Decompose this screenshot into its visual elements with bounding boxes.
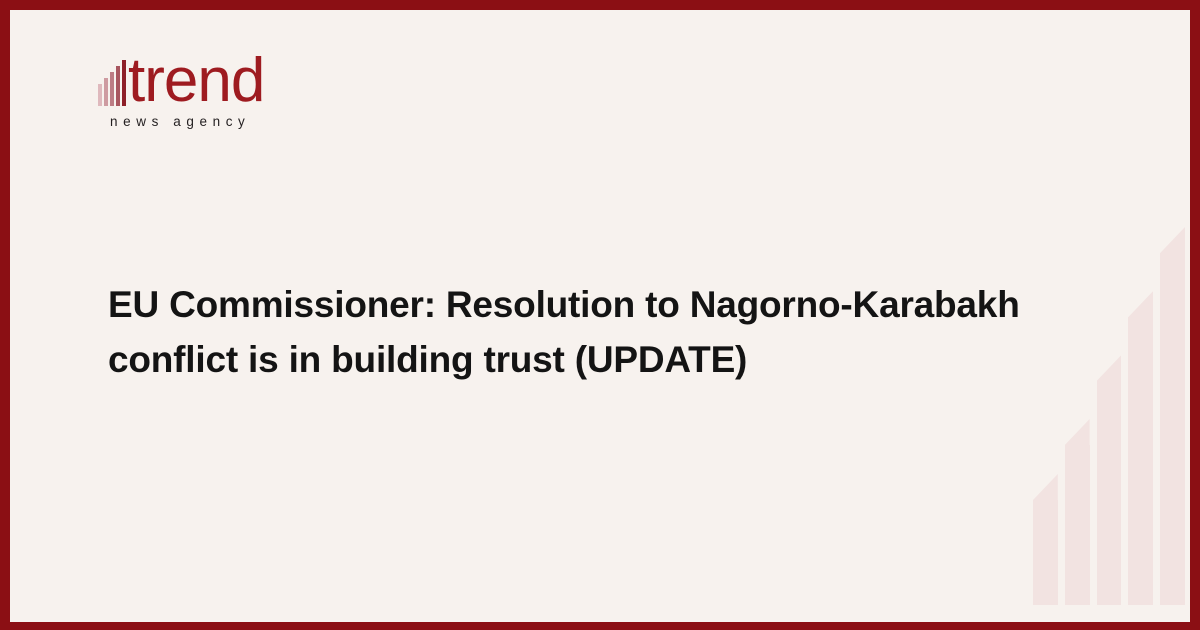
logo-bar [98, 84, 102, 106]
logo-tagline: news agency [110, 114, 398, 129]
decorative-bar [1128, 317, 1153, 605]
card-canvas: trend news agency EU Commissioner: Resol… [10, 10, 1190, 622]
logo-ascending-bars-icon [98, 60, 126, 106]
article-headline: EU Commissioner: Resolution to Nagorno-K… [108, 278, 1038, 388]
logo-bar [116, 66, 120, 106]
logo-bar [110, 72, 114, 106]
logo-wordmark: trend [128, 54, 264, 107]
logo-bar [122, 60, 126, 106]
logo-bar [104, 78, 108, 106]
decorative-bar [1097, 381, 1122, 605]
brand-logo[interactable]: trend news agency [98, 45, 398, 129]
decorative-bar [1160, 253, 1185, 605]
decorative-bar [1033, 500, 1058, 605]
decorative-bar [1065, 445, 1090, 605]
ascending-bars-icon [1033, 155, 1185, 605]
social-share-card: trend news agency EU Commissioner: Resol… [0, 0, 1200, 630]
logo-mark-row: trend [98, 45, 398, 107]
